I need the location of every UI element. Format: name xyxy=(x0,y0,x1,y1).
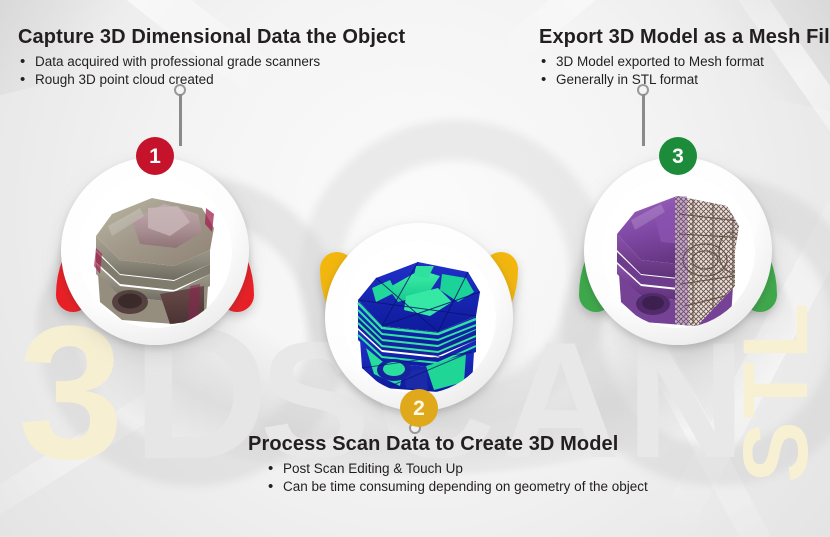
step-1-bullet-list: Data acquired with professional grade sc… xyxy=(18,54,405,87)
step-3-disc xyxy=(584,157,772,345)
infographic-canvas: 3 D SCAN STL Capture 3D Dimensional Data… xyxy=(0,0,830,537)
step-3-bullet-list: 3D Model exported to Mesh format General… xyxy=(539,54,830,87)
step-2-image-frame xyxy=(342,240,496,394)
step-1-text-block: Capture 3D Dimensional Data the Object D… xyxy=(18,26,405,90)
step-2-bullet: Post Scan Editing & Touch Up xyxy=(266,461,648,476)
step-3-badge: 3 xyxy=(659,137,697,175)
step-3-artwork xyxy=(601,174,755,328)
step-1-badge-number: 1 xyxy=(149,146,161,167)
step-1-heading: Capture 3D Dimensional Data the Object xyxy=(18,26,405,49)
step-3-bullet: Generally in STL format xyxy=(539,72,830,87)
step-2-bullet: Can be time consuming depending on geome… xyxy=(266,479,648,494)
step-2-node[interactable]: 2 xyxy=(297,193,541,437)
step-2-disc xyxy=(325,223,513,411)
step-2-artwork xyxy=(342,240,496,394)
step-3-text-block: Export 3D Model as a Mesh File 3D Model … xyxy=(539,26,830,90)
step-3-node[interactable]: 3 xyxy=(556,127,800,371)
step-2-text-block: Process Scan Data to Create 3D Model Pos… xyxy=(248,433,648,497)
step-2-badge: 2 xyxy=(400,389,438,427)
step-1-badge: 1 xyxy=(136,137,174,175)
step-1-bullet: Rough 3D point cloud created xyxy=(18,72,405,87)
step-1-image-frame xyxy=(78,174,232,328)
step-1-artwork xyxy=(78,174,232,328)
step-2-bullet-list: Post Scan Editing & Touch Up Can be time… xyxy=(266,461,648,494)
step-3-image-frame xyxy=(601,174,755,328)
step-3-badge-number: 3 xyxy=(672,146,684,167)
step-1-disc xyxy=(61,157,249,345)
step-1-bullet: Data acquired with professional grade sc… xyxy=(18,54,405,69)
step-2-badge-number: 2 xyxy=(413,398,425,419)
step-1-node[interactable]: 1 xyxy=(33,127,277,371)
step-3-heading: Export 3D Model as a Mesh File xyxy=(539,26,830,49)
step-3-bullet: 3D Model exported to Mesh format xyxy=(539,54,830,69)
